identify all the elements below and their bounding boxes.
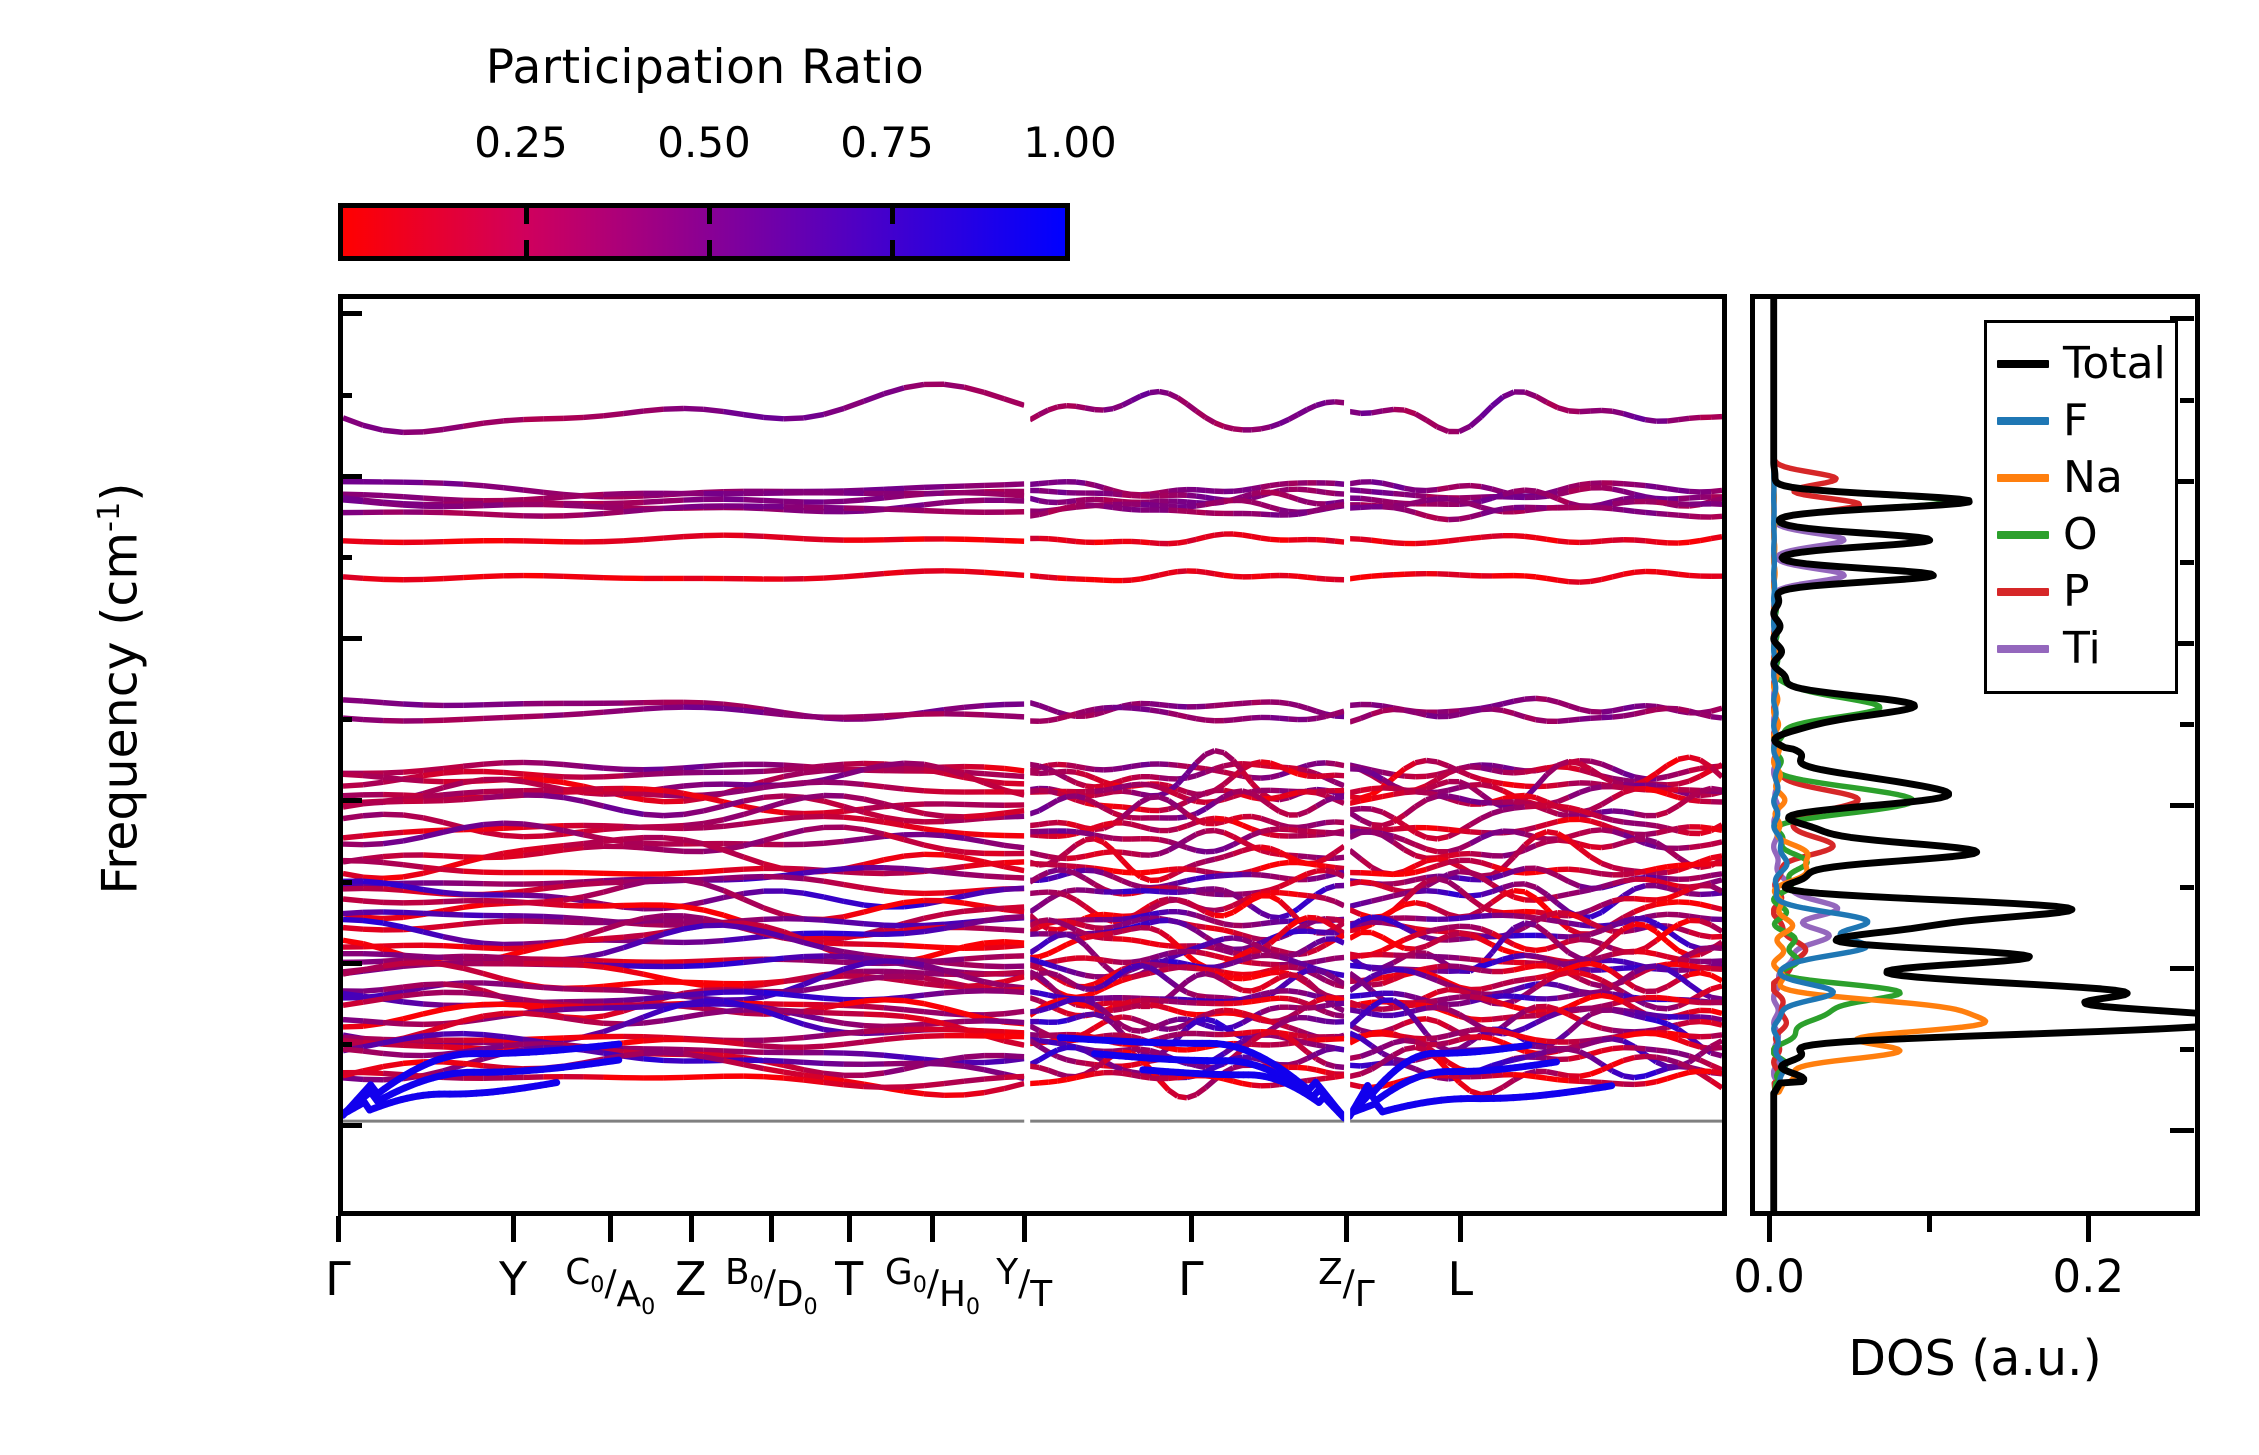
band-curve-segment bbox=[1307, 806, 1316, 811]
band-curve-segment bbox=[1122, 401, 1131, 406]
band-curve-segment bbox=[343, 700, 363, 701]
band-curve-segment bbox=[1057, 507, 1066, 509]
band-curve-segment bbox=[1492, 895, 1503, 903]
band-curve-segment bbox=[1481, 987, 1492, 989]
band-curve-segment bbox=[603, 873, 623, 874]
band-curve-segment bbox=[1289, 991, 1298, 992]
band-curve-segment bbox=[864, 1000, 884, 1001]
band-curve-segment bbox=[1076, 711, 1085, 714]
band-curve-segment bbox=[1104, 769, 1113, 770]
band-curve-segment bbox=[1224, 981, 1233, 987]
band-curve-segment bbox=[784, 1018, 804, 1025]
band-curve-segment bbox=[1196, 496, 1205, 497]
band-curve-segment bbox=[824, 983, 844, 987]
band-curve-segment bbox=[1383, 822, 1394, 826]
band-curve-segment bbox=[1279, 951, 1288, 953]
band-curve-segment bbox=[804, 960, 824, 961]
band-curve-segment bbox=[1004, 1011, 1024, 1013]
band-curve-segment bbox=[1525, 1023, 1536, 1028]
band-curve-segment bbox=[463, 905, 483, 907]
band-curve-segment bbox=[343, 774, 363, 775]
band-curve-segment bbox=[1459, 712, 1470, 715]
band-curve-segment bbox=[1711, 417, 1722, 418]
band-curve-segment bbox=[1689, 961, 1700, 962]
band-curve-segment bbox=[1459, 767, 1470, 769]
band-curve-segment bbox=[764, 417, 784, 418]
band-curve-segment bbox=[1602, 717, 1613, 718]
band-curve-segment bbox=[443, 512, 463, 513]
band-curve-segment bbox=[1224, 833, 1233, 837]
band-curve-segment bbox=[1252, 847, 1261, 848]
band-curve-segment bbox=[704, 765, 724, 766]
colorbar-title: Participation Ratio bbox=[330, 40, 1080, 95]
band-curve-segment bbox=[644, 997, 664, 999]
band-curve-segment bbox=[463, 423, 483, 426]
band-curve-segment bbox=[1113, 925, 1122, 927]
band-curve-segment bbox=[1316, 870, 1325, 871]
band-curve-segment bbox=[1623, 414, 1634, 417]
band-curve-segment bbox=[744, 787, 764, 790]
band-curve-segment bbox=[1242, 771, 1251, 783]
band-curve-segment bbox=[1187, 822, 1196, 825]
band-curve-segment bbox=[1492, 765, 1503, 767]
band-curve-segment bbox=[383, 923, 403, 927]
band-curve-segment bbox=[1316, 823, 1325, 825]
band-curve-segment bbox=[1536, 396, 1547, 402]
band-curve-segment bbox=[1094, 853, 1103, 855]
band-curve-segment bbox=[1252, 988, 1261, 991]
band-curve-segment bbox=[1470, 916, 1481, 917]
band-curve-segment bbox=[1205, 831, 1214, 832]
band-curve-segment bbox=[1481, 892, 1492, 895]
colorbar-tick-label: 0.75 bbox=[840, 118, 934, 167]
band-curve-segment bbox=[1159, 1028, 1168, 1029]
band-curve-segment bbox=[964, 858, 984, 862]
band-curve-segment bbox=[603, 414, 623, 416]
band-curve-segment bbox=[583, 835, 603, 839]
band-curve-segment bbox=[503, 901, 523, 902]
band-curve-segment bbox=[1057, 874, 1066, 877]
band-curve-segment bbox=[1383, 918, 1394, 922]
band-curve-segment bbox=[864, 1040, 884, 1042]
band-curve-segment bbox=[1252, 956, 1261, 958]
band-curve-segment bbox=[1030, 893, 1039, 894]
band-curve-segment bbox=[644, 538, 664, 540]
band-curve-segment bbox=[1215, 997, 1224, 998]
band-curve-segment bbox=[1514, 536, 1525, 537]
band-curve-segment bbox=[1307, 931, 1316, 932]
band-curve-segment bbox=[1279, 883, 1288, 887]
band-curve-segment bbox=[1057, 893, 1066, 896]
band-curve-segment bbox=[1307, 771, 1316, 774]
band-curve-segment bbox=[1004, 1021, 1024, 1022]
band-curve-segment bbox=[1076, 840, 1085, 845]
band-curve-segment bbox=[1252, 816, 1261, 818]
band-curve-segment bbox=[1361, 820, 1372, 825]
band-curve-segment bbox=[1326, 832, 1335, 833]
band-curve-segment bbox=[1150, 928, 1159, 931]
band-curve-segment bbox=[984, 966, 1004, 967]
band-curve-segment bbox=[1141, 872, 1150, 873]
band-curve-segment bbox=[884, 822, 904, 825]
band-curve-segment bbox=[523, 782, 543, 786]
band-curve-segment bbox=[1470, 997, 1481, 998]
band-curve-segment bbox=[1168, 961, 1177, 962]
band-curve-segment bbox=[1122, 1002, 1131, 1004]
band-curve-segment bbox=[1350, 983, 1361, 990]
band-curve-segment bbox=[704, 703, 724, 704]
band-curve-segment bbox=[1558, 806, 1569, 807]
band-curve-segment bbox=[1307, 824, 1316, 826]
band-curve-segment bbox=[1159, 787, 1168, 791]
band-curve-segment bbox=[1104, 782, 1113, 785]
band-curve-segment bbox=[1383, 772, 1394, 774]
band-curve-segment bbox=[1372, 917, 1383, 918]
band-curve-segment bbox=[1326, 402, 1335, 403]
band-curve-segment bbox=[483, 486, 503, 488]
band-curve-segment bbox=[1159, 877, 1168, 880]
band-curve-segment bbox=[964, 892, 984, 896]
band-curve-segment bbox=[1215, 849, 1224, 852]
band-curve-segment bbox=[1150, 839, 1159, 840]
band-curve-segment bbox=[1085, 786, 1094, 787]
band-curve-segment bbox=[664, 850, 684, 851]
band-curve-segment bbox=[1004, 811, 1024, 813]
band-curve-segment bbox=[644, 879, 664, 882]
band-curve-segment bbox=[844, 912, 864, 917]
band-curve-segment bbox=[1233, 851, 1242, 854]
band-curve-segment bbox=[563, 714, 583, 715]
band-curve-segment bbox=[1470, 537, 1481, 538]
band-curve-segment bbox=[383, 430, 403, 432]
band-curve-segment bbox=[1536, 1017, 1547, 1022]
band-curve-segment bbox=[1580, 581, 1591, 582]
band-curve-segment bbox=[1569, 892, 1580, 894]
band-curve-segment bbox=[503, 835, 523, 836]
band-curve-segment bbox=[984, 928, 1004, 929]
band-curve-segment bbox=[1569, 939, 1580, 941]
band-curve-segment bbox=[1503, 710, 1514, 713]
band-curve-segment bbox=[1580, 483, 1591, 484]
band-curve-segment bbox=[1459, 844, 1470, 849]
band-curve-segment bbox=[664, 838, 684, 840]
band-curve-segment bbox=[1459, 1030, 1470, 1032]
band-curve-segment bbox=[1404, 763, 1415, 769]
band-curve-segment bbox=[1196, 512, 1205, 513]
band-curve-segment bbox=[1503, 981, 1514, 984]
band-curve-segment bbox=[1645, 706, 1656, 707]
band-curve-segment bbox=[1404, 503, 1415, 505]
band-curve-segment bbox=[964, 874, 984, 876]
band-curve-segment bbox=[1656, 502, 1667, 503]
band-curve-segment bbox=[1168, 1001, 1177, 1002]
band-curve-segment bbox=[1503, 1032, 1514, 1035]
band-curve-segment bbox=[684, 1014, 704, 1017]
band-curve-segment bbox=[343, 920, 363, 921]
band-curve-segment bbox=[804, 919, 824, 920]
band-curve-segment bbox=[704, 878, 724, 879]
band-curve-segment bbox=[463, 986, 483, 991]
band-curve-segment bbox=[1536, 925, 1547, 933]
band-curve-segment bbox=[563, 917, 583, 918]
band-curve-segment bbox=[1623, 879, 1634, 881]
band-curve-segment bbox=[1242, 825, 1251, 829]
band-curve-segment bbox=[1689, 776, 1700, 781]
band-curve-segment bbox=[1404, 488, 1415, 490]
band-curve-segment bbox=[884, 934, 904, 935]
band-curve-segment bbox=[1678, 1035, 1689, 1036]
band-curve-segment bbox=[1085, 775, 1094, 779]
band-curve-segment bbox=[984, 842, 1004, 846]
band-curves bbox=[343, 299, 1722, 1211]
band-curve-segment bbox=[1656, 914, 1667, 915]
band-curve-segment bbox=[964, 485, 984, 486]
band-curve-segment bbox=[1372, 825, 1383, 826]
band-curve-segment bbox=[944, 820, 964, 821]
band-curve-segment bbox=[1580, 993, 1591, 994]
band-curve-segment bbox=[1150, 964, 1159, 965]
band-curve-segment bbox=[1536, 768, 1547, 770]
band-curve-segment bbox=[1168, 845, 1177, 850]
band-curve-segment bbox=[423, 1004, 443, 1005]
band-curve-segment bbox=[1187, 869, 1196, 870]
band-curve-segment bbox=[1569, 411, 1580, 412]
band-curve-segment bbox=[824, 998, 844, 999]
band-curve-segment bbox=[1350, 1017, 1361, 1027]
band-curve-segment bbox=[724, 1010, 744, 1011]
band-curve-segment bbox=[1205, 954, 1214, 956]
band-curve-segment bbox=[1030, 906, 1039, 912]
band-curve-segment bbox=[1547, 832, 1558, 834]
band-curve-segment bbox=[1656, 998, 1667, 999]
band-curve-segment bbox=[1113, 962, 1122, 963]
band-curve-segment bbox=[664, 537, 684, 538]
band-curve-segment bbox=[1602, 577, 1613, 580]
band-curve-segment bbox=[583, 416, 603, 418]
band-curve-segment bbox=[1404, 807, 1415, 815]
band-curve-segment bbox=[1085, 854, 1094, 856]
band-curve-segment bbox=[1569, 988, 1580, 991]
band-curve-segment bbox=[944, 384, 964, 387]
band-curve-segment bbox=[1261, 923, 1270, 924]
band-curve-segment bbox=[704, 870, 724, 871]
band-curve-segment bbox=[1187, 495, 1196, 496]
band-curve-segment bbox=[1437, 1035, 1448, 1037]
band-curve-segment bbox=[864, 819, 884, 822]
band-curve-segment bbox=[1085, 715, 1094, 717]
band-curve-segment bbox=[1437, 541, 1448, 542]
band-curve-segment bbox=[1233, 703, 1242, 704]
band-curve-segment bbox=[1459, 854, 1470, 855]
band-curve-segment bbox=[1481, 854, 1492, 855]
band-curve-segment bbox=[1634, 823, 1645, 824]
band-curve-segment bbox=[1326, 958, 1335, 960]
band-curve-segment bbox=[644, 794, 664, 795]
band-curve-segment bbox=[1085, 993, 1094, 996]
band-curve-segment bbox=[884, 891, 904, 893]
band-curve-segment bbox=[1076, 500, 1085, 501]
band-curve-segment bbox=[1569, 1015, 1580, 1020]
band-curve-segment bbox=[1242, 997, 1251, 999]
band-curve-segment bbox=[1104, 965, 1113, 973]
band-curve-segment bbox=[724, 704, 744, 706]
band-curve-segment bbox=[844, 500, 864, 501]
band-curve-segment bbox=[964, 834, 984, 835]
band-curve-segment bbox=[1279, 981, 1288, 988]
band-curve-segment bbox=[664, 814, 684, 815]
band-curve-segment bbox=[1048, 864, 1057, 865]
band-curve-segment bbox=[1612, 952, 1623, 954]
band-curve-segment bbox=[1242, 957, 1251, 960]
band-curve-segment bbox=[1591, 1010, 1602, 1014]
band-curve-segment bbox=[1076, 796, 1085, 798]
band-curve-segment bbox=[1335, 711, 1344, 714]
band-curve-segment bbox=[423, 1024, 443, 1025]
band-curve-segment bbox=[624, 709, 644, 711]
band-curve-segment bbox=[1326, 919, 1335, 920]
band-curve-segment bbox=[964, 775, 984, 783]
band-curve-segment bbox=[1426, 760, 1437, 761]
band-curve-segment bbox=[1404, 840, 1415, 845]
band-curve-segment bbox=[1159, 573, 1168, 575]
band-curve-segment bbox=[1094, 1022, 1103, 1027]
band-curve-segment bbox=[744, 500, 764, 501]
band-curve-segment bbox=[1094, 790, 1103, 791]
band-curve-segment bbox=[1372, 1032, 1383, 1033]
band-curve-segment bbox=[1178, 962, 1187, 964]
band-curve-segment bbox=[1196, 809, 1205, 814]
band-curve-segment bbox=[1678, 939, 1689, 946]
band-curve-segment bbox=[343, 577, 363, 579]
band-curve-segment bbox=[1159, 797, 1168, 800]
band-curve-segment bbox=[944, 486, 964, 487]
band-curve-segment bbox=[1215, 1010, 1224, 1011]
band-curve-segment bbox=[1350, 507, 1361, 508]
band-curve-segment bbox=[1700, 827, 1711, 828]
band-curve-segment bbox=[784, 979, 804, 981]
band-curve-segment bbox=[1004, 500, 1024, 501]
band-curve-segment bbox=[1279, 791, 1288, 792]
band-curve-segment bbox=[1558, 996, 1569, 998]
band-curve-segment bbox=[744, 535, 764, 536]
band-curve-segment bbox=[523, 499, 543, 500]
band-curve-segment bbox=[1178, 967, 1187, 968]
band-curve-segment bbox=[1270, 917, 1279, 918]
band-curve-segment bbox=[403, 1002, 423, 1004]
band-curve-segment bbox=[684, 982, 704, 983]
band-curve-segment bbox=[964, 991, 984, 992]
band-curve-segment bbox=[543, 834, 563, 836]
band-curve-segment bbox=[363, 990, 383, 992]
band-curve-segment bbox=[1159, 705, 1168, 706]
band-curve-segment bbox=[1215, 534, 1224, 535]
band-curve-segment bbox=[1569, 582, 1580, 583]
band-curve-segment bbox=[1383, 970, 1394, 972]
band-curve-segment bbox=[1492, 866, 1503, 870]
band-curve-segment bbox=[1307, 835, 1316, 836]
band-curve-segment bbox=[1067, 870, 1076, 873]
band-curve-segment bbox=[443, 719, 463, 720]
band-curve-segment bbox=[1178, 912, 1187, 913]
band-curve-segment bbox=[1689, 886, 1700, 890]
band-curve-segment bbox=[1503, 1004, 1514, 1007]
band-curve-segment bbox=[704, 797, 724, 802]
band-curve-segment bbox=[1393, 955, 1404, 956]
band-curve-segment bbox=[1645, 952, 1656, 954]
band-curve-segment bbox=[1205, 490, 1214, 491]
band-curve-segment bbox=[1316, 859, 1325, 863]
band-curve-segment bbox=[704, 1040, 724, 1042]
band-curve-segment bbox=[1307, 970, 1316, 971]
band-curve-segment bbox=[1558, 985, 1569, 988]
band-curve-segment bbox=[1580, 411, 1591, 412]
band-curve-segment bbox=[1383, 886, 1394, 890]
band-curve-segment bbox=[1393, 836, 1404, 840]
band-curve-segment bbox=[1150, 505, 1159, 506]
band-curve-segment bbox=[1307, 763, 1316, 765]
band-curve-segment bbox=[824, 1013, 844, 1014]
band-curve-segment bbox=[423, 801, 443, 802]
band-curve-segment bbox=[1104, 915, 1113, 916]
band-curve-segment bbox=[1372, 873, 1383, 874]
band-curve-segment bbox=[764, 835, 784, 841]
band-curve-segment bbox=[1141, 973, 1150, 975]
band-curve-segment bbox=[1030, 703, 1039, 706]
band-curve-segment bbox=[543, 943, 563, 947]
band-curve-segment bbox=[1085, 768, 1094, 769]
band-curve-segment bbox=[924, 829, 944, 832]
band-curve-segment bbox=[1404, 880, 1415, 882]
band-curve-segment bbox=[1215, 966, 1224, 968]
band-curve-segment bbox=[363, 834, 383, 836]
band-curve-segment bbox=[1492, 786, 1503, 790]
band-curve-segment bbox=[1700, 831, 1711, 834]
band-curve-segment bbox=[1104, 500, 1113, 501]
band-curve-segment bbox=[684, 1039, 704, 1040]
colorbar-tick-mark bbox=[707, 240, 712, 256]
band-curve-segment bbox=[1224, 890, 1233, 894]
band-curve-segment bbox=[1678, 886, 1689, 887]
band-curve-segment bbox=[603, 768, 623, 769]
band-curve-segment bbox=[1289, 1018, 1298, 1020]
band-curve-segment bbox=[1711, 856, 1722, 858]
band-curve-segment bbox=[1113, 915, 1122, 916]
band-curve-segment bbox=[1113, 791, 1122, 792]
band-curve-segment bbox=[1224, 819, 1233, 821]
band-curve-segment bbox=[944, 816, 964, 817]
band-curve-segment bbox=[1048, 1042, 1057, 1043]
band-curve-segment bbox=[1307, 863, 1316, 864]
band-curve-segment bbox=[624, 793, 644, 794]
band-curve-segment bbox=[1602, 874, 1613, 875]
band-curve-segment bbox=[1372, 899, 1383, 902]
band-curve-segment bbox=[1448, 918, 1459, 919]
band-curve-segment bbox=[1215, 751, 1224, 753]
band-curve-segment bbox=[1141, 797, 1150, 802]
band-curve-segment bbox=[403, 837, 423, 841]
band-curve-segment bbox=[1298, 812, 1307, 815]
band-curve-segment bbox=[603, 961, 623, 962]
band-curve-segment bbox=[1104, 873, 1113, 877]
band-curve-segment bbox=[1580, 488, 1591, 490]
band-curve-segment bbox=[1634, 511, 1645, 512]
band-curve-segment bbox=[483, 901, 503, 902]
band-curve-segment bbox=[844, 717, 864, 718]
band-curve-segment bbox=[924, 854, 944, 855]
band-curve-segment bbox=[1678, 709, 1689, 711]
band-curve-segment bbox=[1298, 410, 1307, 415]
band-curve-segment bbox=[1470, 927, 1481, 929]
